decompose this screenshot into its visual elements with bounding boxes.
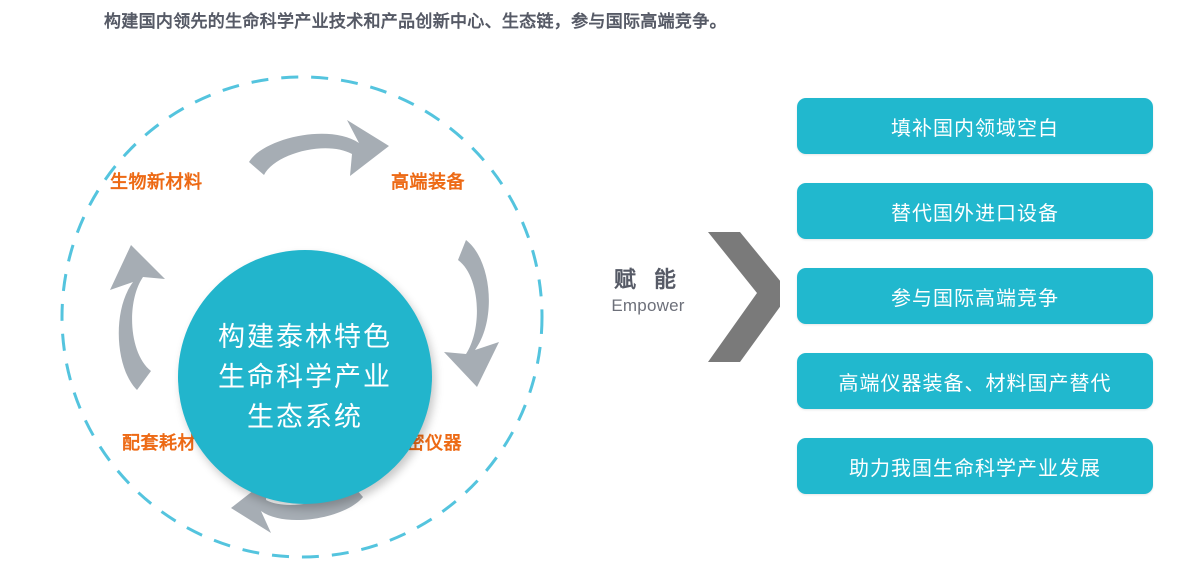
outcome-box-2[interactable]: 替代国外进口设备 xyxy=(797,183,1153,239)
outcome-box-1[interactable]: 填补国内领域空白 xyxy=(797,98,1153,154)
outcome-box-5-label: 助力我国生命科学产业发展 xyxy=(849,452,1101,481)
ecosystem-cycle: 生物新材料 高端装备 配套耗材 精密仪器 构建泰林特色 生命科学产业 生态系统 xyxy=(0,60,620,572)
page-title: 构建国内领先的生命科学产业技术和产品创新中心、生态链，参与国际高端竞争。 xyxy=(104,7,1004,32)
diagram-canvas: 构建国内领先的生命科学产业技术和产品创新中心、生态链，参与国际高端竞争。 xyxy=(0,0,1183,572)
outcome-box-4-label: 高端仪器装备、材料国产替代 xyxy=(839,367,1112,396)
empower-label-en: Empower xyxy=(592,294,704,318)
outcome-box-3[interactable]: 参与国际高端竞争 xyxy=(797,268,1153,324)
core-line-1: 构建泰林特色 xyxy=(218,317,392,357)
outcome-list: 填补国内领域空白 替代国外进口设备 参与国际高端竞争 高端仪器装备、材料国产替代… xyxy=(797,98,1153,494)
node-label-bio-materials: 生物新材料 xyxy=(110,168,203,194)
empower-label-cn: 赋 能 xyxy=(592,266,704,294)
core-line-2: 生命科学产业 xyxy=(218,357,392,397)
outcome-box-2-label: 替代国外进口设备 xyxy=(891,197,1059,226)
node-label-high-end-equipment: 高端装备 xyxy=(391,168,465,194)
outcome-box-1-label: 填补国内领域空白 xyxy=(891,112,1059,141)
outcome-box-4[interactable]: 高端仪器装备、材料国产替代 xyxy=(797,353,1153,409)
core-circle: 构建泰林特色 生命科学产业 生态系统 xyxy=(178,250,432,504)
core-line-3: 生态系统 xyxy=(247,397,363,437)
outcome-box-5[interactable]: 助力我国生命科学产业发展 xyxy=(797,438,1153,494)
outcome-box-3-label: 参与国际高端竞争 xyxy=(891,282,1059,311)
chevron-right-icon xyxy=(700,225,780,370)
node-label-consumables: 配套耗材 xyxy=(122,429,196,455)
empower-label-group: 赋 能 Empower xyxy=(592,266,704,318)
